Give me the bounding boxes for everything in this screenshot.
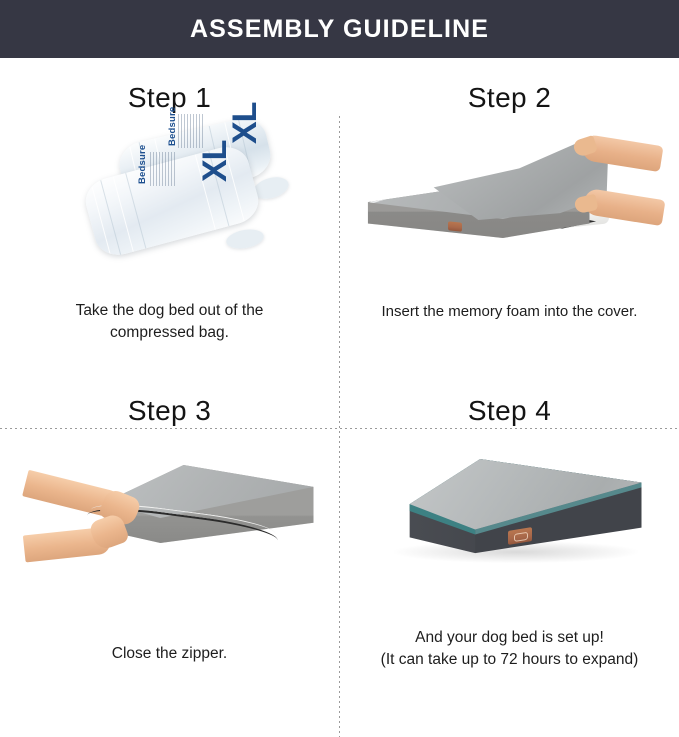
finished-dog-bed-graphic bbox=[376, 455, 656, 567]
zipper-close-graphic bbox=[24, 459, 324, 575]
step-2-illustration bbox=[360, 114, 660, 301]
steps-grid: Step 1 Bedsure XL bbox=[0, 58, 679, 679]
step-3-illustration bbox=[20, 427, 320, 643]
step-card-2: Step 2 Insert the mem bbox=[340, 58, 679, 370]
vacuum-bags-graphic: Bedsure XL Bedsure XL bbox=[58, 126, 288, 266]
dog-bed-cover-graphic bbox=[368, 134, 658, 264]
step-1-caption-line2: compressed bag. bbox=[20, 322, 320, 344]
step-4-caption-line1: And your dog bed is set up! bbox=[415, 629, 604, 646]
step-card-4: Step 4 And your dog bed is set up! (It c… bbox=[340, 371, 679, 679]
page-title: ASSEMBLY GUIDELINE bbox=[190, 15, 489, 44]
step-4-illustration bbox=[360, 427, 660, 627]
step-3-title: Step 3 bbox=[128, 395, 211, 427]
step-3-caption: Close the zipper. bbox=[20, 643, 320, 665]
step-2-caption-line1: Insert the memory foam into the cover. bbox=[382, 303, 638, 320]
bag-plastic-tail-front bbox=[224, 227, 265, 251]
bag-size-label-front: XL bbox=[198, 141, 232, 182]
bag-brand-label-front: Bedsure bbox=[138, 145, 148, 184]
step-4-caption: And your dog bed is set up! (It can take… bbox=[360, 627, 660, 671]
step-1-illustration: Bedsure XL Bedsure XL bbox=[20, 114, 320, 300]
page-header: ASSEMBLY GUIDELINE bbox=[0, 0, 679, 58]
step-4-caption-line2: (It can take up to 72 hours to expand) bbox=[360, 649, 660, 671]
step-3-caption-line1: Close the zipper. bbox=[112, 645, 227, 662]
step-card-3: Step 3 Close the zipper. bbox=[0, 371, 339, 679]
bag-brand-label-back: Bedsure bbox=[168, 107, 178, 146]
leather-brand-tag bbox=[448, 221, 462, 231]
step-card-1: Step 1 Bedsure XL bbox=[0, 58, 339, 370]
step-2-title: Step 2 bbox=[468, 82, 551, 114]
step-4-title: Step 4 bbox=[468, 395, 551, 427]
step-1-caption: Take the dog bed out of the compressed b… bbox=[20, 300, 320, 344]
step-1-caption-line1: Take the dog bed out of the bbox=[76, 302, 264, 319]
step-2-caption: Insert the memory foam into the cover. bbox=[360, 301, 660, 322]
bag-fineprint-front bbox=[150, 152, 176, 186]
bag-size-label-back: XL bbox=[228, 103, 262, 144]
